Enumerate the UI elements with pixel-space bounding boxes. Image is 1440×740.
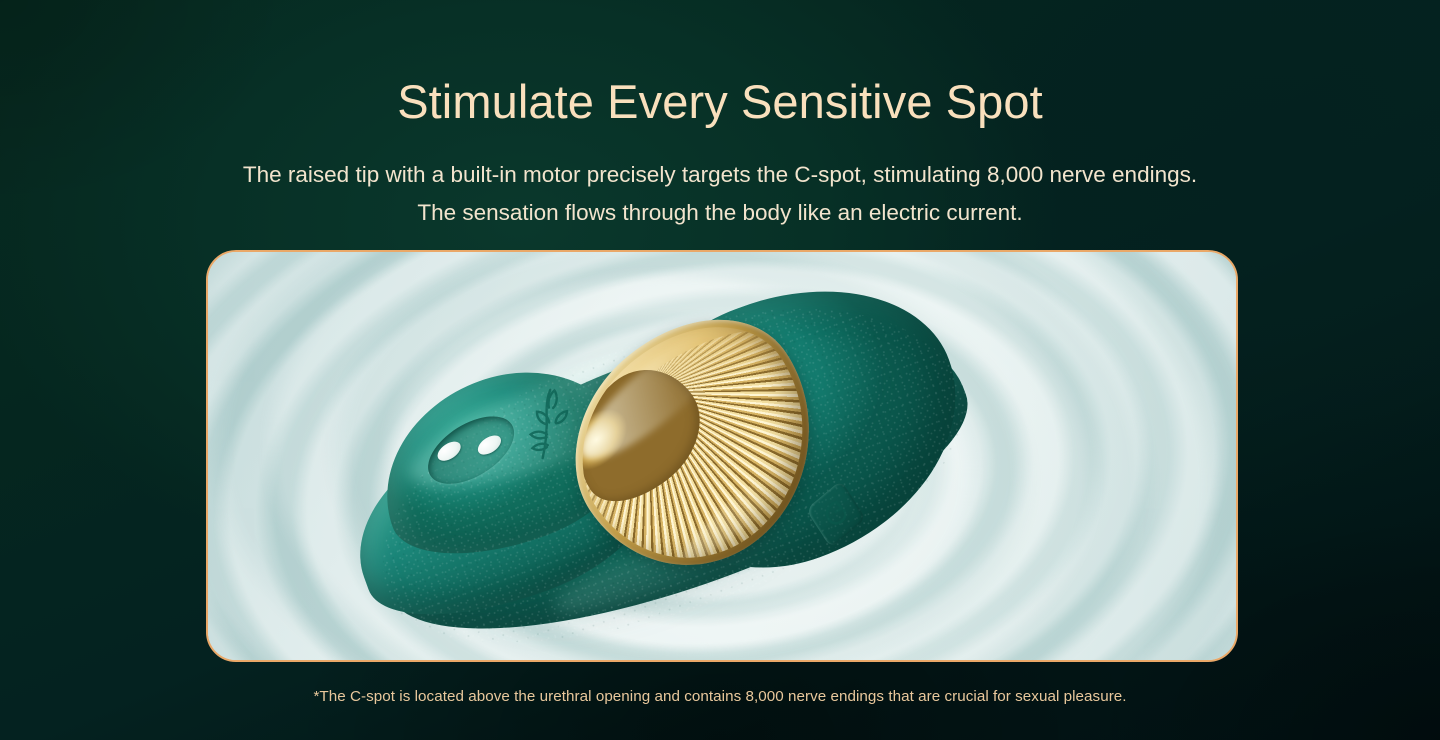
page-title: Stimulate Every Sensitive Spot (0, 74, 1440, 130)
subtitle-line-1: The raised tip with a built-in motor pre… (243, 162, 1197, 187)
promo-page: Stimulate Every Sensitive Spot The raise… (0, 0, 1440, 740)
subtitle: The raised tip with a built-in motor pre… (0, 156, 1440, 232)
footnote: *The C-spot is located above the urethra… (0, 688, 1440, 705)
subtitle-line-2: The sensation flows through the body lik… (0, 194, 1440, 232)
product-device (356, 270, 996, 650)
product-image-card[interactable] (206, 250, 1238, 662)
device-silicone-body (324, 250, 1010, 662)
